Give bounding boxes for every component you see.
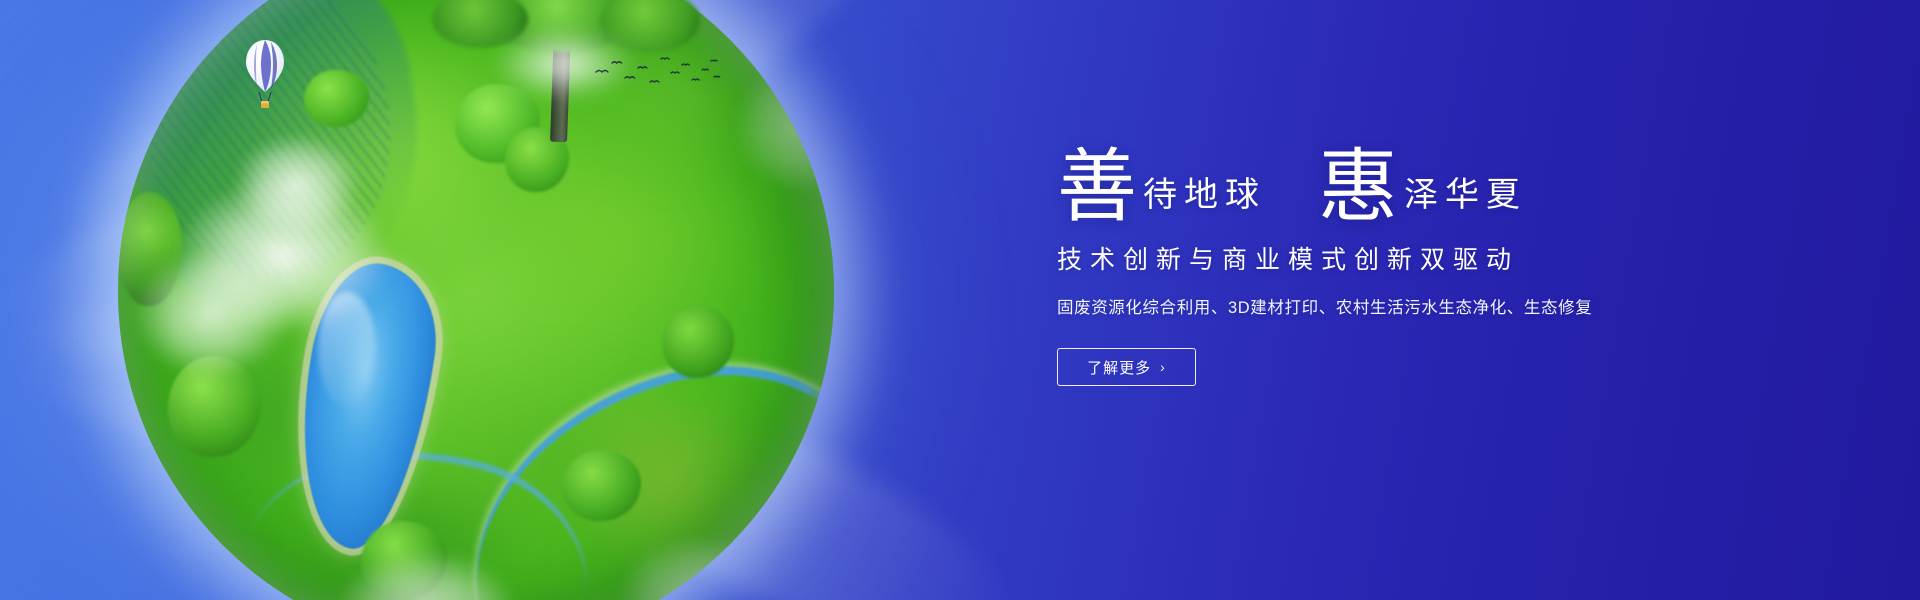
tree-canopy xyxy=(456,0,616,46)
crown-tree xyxy=(404,0,704,152)
headline-big-char-1: 善 xyxy=(1057,150,1137,224)
cloud-streak xyxy=(423,0,938,243)
globe-rim-light xyxy=(118,0,834,600)
page-title: 善 待地球 惠 泽华夏 xyxy=(1057,132,1817,218)
tree-clump xyxy=(118,192,182,307)
tree-canopy xyxy=(534,0,684,36)
tree-clump xyxy=(361,521,447,600)
tree-clump xyxy=(455,84,541,163)
lake-highlight xyxy=(318,292,375,407)
sky-wash xyxy=(0,0,1060,600)
tree-clump xyxy=(505,127,569,191)
tree-clump xyxy=(304,70,368,127)
tree-clump xyxy=(662,306,734,378)
cloud xyxy=(333,550,519,600)
tree-trunk xyxy=(550,30,571,143)
headline-group-2: 惠 泽华夏 xyxy=(1318,144,1527,218)
tree-canopy xyxy=(500,0,630,52)
cloud xyxy=(233,134,362,234)
hot-air-balloon-icon xyxy=(243,38,287,116)
cloud xyxy=(175,177,390,335)
grass-texture xyxy=(247,435,576,600)
headline-small-chars-2: 泽华夏 xyxy=(1404,178,1527,212)
cloud-streak xyxy=(3,266,677,504)
hero-description: 固废资源化综合利用、3D建材打印、农村生活污水生态净化、生态修复 xyxy=(1057,294,1817,318)
cloud-streak xyxy=(0,79,712,410)
bird-flock-icon xyxy=(592,52,722,92)
tree-canopy xyxy=(600,0,700,52)
cloud xyxy=(132,249,290,378)
cloud-streak xyxy=(511,334,1049,600)
globe-halo xyxy=(48,0,904,600)
cloud xyxy=(433,0,648,20)
headline-big-char-2: 惠 xyxy=(1318,150,1398,224)
grass-texture xyxy=(147,249,390,564)
river-secondary xyxy=(225,411,612,600)
tree-canopy xyxy=(432,0,528,48)
learn-more-label: 了解更多 xyxy=(1087,357,1151,378)
cloud xyxy=(734,63,834,192)
globe xyxy=(118,0,834,600)
lake xyxy=(283,256,448,558)
cloud xyxy=(619,535,777,600)
grass-texture xyxy=(519,335,820,600)
globe-illustration xyxy=(118,0,834,600)
tree-clump xyxy=(168,356,261,456)
headline-small-chars-1: 待地球 xyxy=(1143,178,1266,212)
mountain-ridge xyxy=(118,0,441,325)
cloud-streak xyxy=(35,0,685,304)
learn-more-button[interactable]: 了解更多 › xyxy=(1057,348,1196,386)
tree-clump xyxy=(562,450,641,522)
cloud-streak xyxy=(111,347,748,600)
chevron-right-icon: › xyxy=(1160,360,1166,374)
grass-texture xyxy=(548,0,806,220)
grass-texture xyxy=(333,306,763,600)
hero-subtitle: 技术创新与商业模式创新双驱动 xyxy=(1057,240,1817,276)
hero-copy: 善 待地球 惠 泽华夏 技术创新与商业模式创新双驱动 固废资源化综合利用、3D建… xyxy=(1057,132,1817,386)
hero-banner: 善 待地球 惠 泽华夏 技术创新与商业模式创新双驱动 固废资源化综合利用、3D建… xyxy=(0,0,1920,600)
tree-mist xyxy=(464,14,664,114)
mountain-ridge-lines xyxy=(132,0,406,290)
river xyxy=(431,325,834,600)
headline-group-1: 善 待地球 xyxy=(1057,144,1266,218)
grass-texture xyxy=(175,0,590,335)
grass-texture xyxy=(419,63,820,407)
